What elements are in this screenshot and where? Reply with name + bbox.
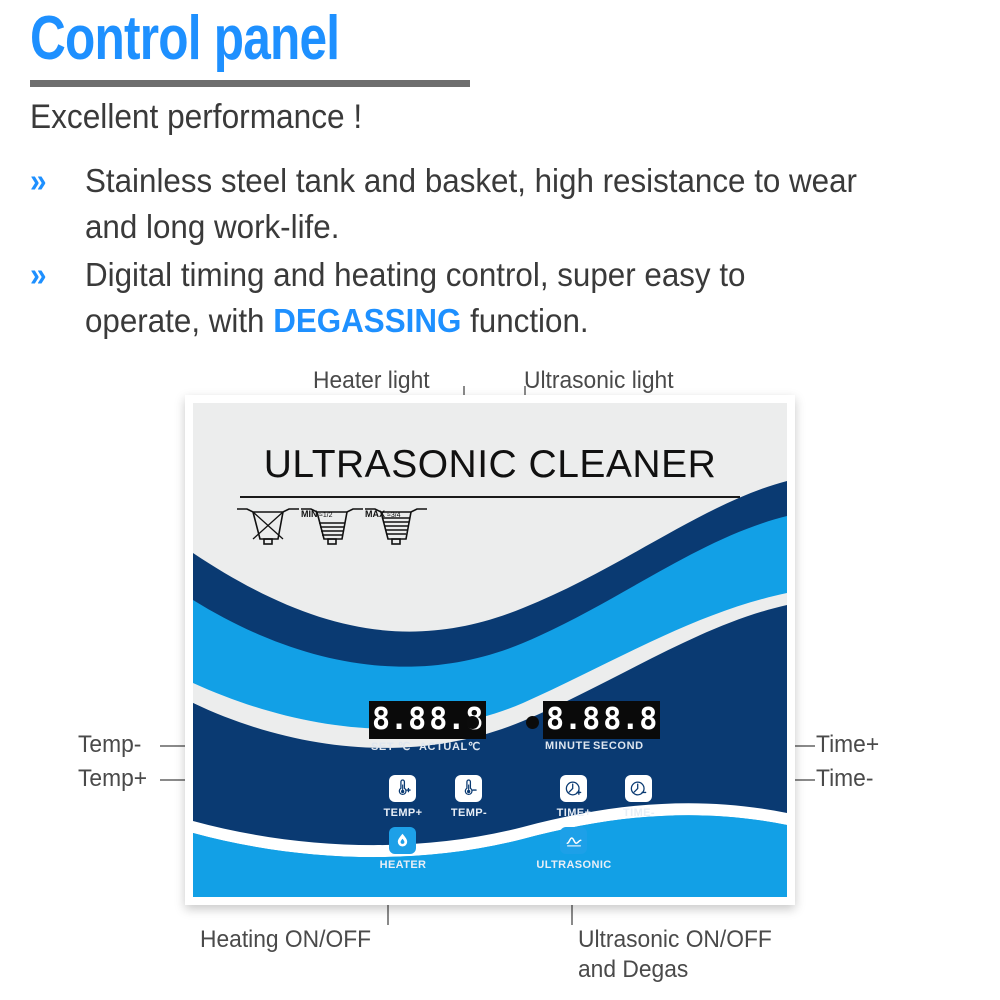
callout-ultrasonic-light: Ultrasonic light xyxy=(524,366,674,396)
title-underline-rule xyxy=(30,80,470,87)
tank-min-sublabel: ≈1/2 xyxy=(319,512,333,519)
callout-ultrasonic-onoff-line-2: and Degas xyxy=(578,955,688,985)
timer-minute-value: 8.8 xyxy=(546,703,600,737)
ultrasonic-indicator-light xyxy=(526,716,539,729)
control-panel: ULTRASONIC CLEANER xyxy=(185,395,795,905)
control-panel-face: ULTRASONIC CLEANER xyxy=(193,403,787,897)
feature-bullet-2-post: function. xyxy=(461,302,588,339)
timer-display: 8.8 8.8 xyxy=(543,701,660,739)
temp-actual-label: ACTUAL℃ xyxy=(419,740,481,753)
tank-max-sublabel: ≈3/4 xyxy=(387,512,401,519)
thermometer-minus-icon xyxy=(459,779,478,798)
panel-brand-underline xyxy=(240,496,740,498)
timer-minute-label: MINUTE xyxy=(545,740,591,752)
temp-minus-key-label: TEMP- xyxy=(434,807,504,819)
chevron-double-right-icon: » xyxy=(30,258,47,291)
temp-set-value: 8.8 xyxy=(372,703,426,737)
temp-set-label: SET ℃ xyxy=(371,740,411,753)
degassing-emphasis: DEGASSING xyxy=(273,302,461,339)
temp-minus-key[interactable] xyxy=(455,775,482,802)
callout-time-plus: Time+ xyxy=(816,730,879,760)
heater-key-label: HEATER xyxy=(363,859,443,871)
feature-bullet-1-line-1: Stainless steel tank and basket, high re… xyxy=(85,158,857,204)
callout-ultrasonic-onoff-line-1: Ultrasonic ON/OFF xyxy=(578,925,772,955)
temp-plus-key[interactable] xyxy=(389,775,416,802)
feature-bullet-2-pre: operate, with xyxy=(85,302,273,339)
water-drop-icon xyxy=(394,832,411,849)
tank-min-label: MIN xyxy=(301,509,318,519)
chevron-double-right-icon: » xyxy=(30,164,47,197)
callout-time-minus: Time- xyxy=(816,764,873,794)
feature-bullet-1-line-2: and long work-life. xyxy=(85,204,339,250)
feature-bullet-2-line-1: Digital timing and heating control, supe… xyxy=(85,252,745,298)
panel-brand-title: ULTRASONIC CLEANER xyxy=(193,443,787,487)
ultrasonic-key-label: ULTRASONIC xyxy=(529,859,619,871)
time-plus-key[interactable] xyxy=(560,775,587,802)
callout-heater-light: Heater light xyxy=(313,366,430,396)
tank-empty-icon xyxy=(237,509,299,544)
clock-plus-icon xyxy=(564,779,583,798)
time-minus-key[interactable] xyxy=(625,775,652,802)
timer-second-label: SECOND xyxy=(593,740,644,752)
ultrasonic-key[interactable] xyxy=(560,827,587,854)
thermometer-plus-icon xyxy=(393,779,412,798)
timer-second-value: 8.8 xyxy=(603,703,657,737)
sound-wave-icon xyxy=(565,832,583,850)
page-title: Control panel xyxy=(30,8,339,70)
tank-level-icons: MIN ≈1/2 MAX ≈3/4 xyxy=(233,503,433,551)
heater-key[interactable] xyxy=(389,827,416,854)
feature-bullet-2-line-2: operate, with DEGASSING function. xyxy=(85,298,589,344)
header-section: Control panel Excellent performance ! » … xyxy=(0,0,1000,350)
time-plus-key-label: TIME+ xyxy=(539,807,609,819)
callout-temp-plus: Temp+ xyxy=(78,764,147,794)
temp-plus-key-label: TEMP+ xyxy=(368,807,438,819)
tank-max-label: MAX xyxy=(365,509,385,519)
subtitle: Excellent performance ! xyxy=(30,95,362,139)
callout-temp-minus: Temp- xyxy=(78,730,141,760)
heater-indicator-light xyxy=(466,716,479,729)
time-minus-key-label: TIME- xyxy=(604,807,674,819)
clock-minus-icon xyxy=(629,779,648,798)
callout-heating-onoff: Heating ON/OFF xyxy=(200,925,371,955)
